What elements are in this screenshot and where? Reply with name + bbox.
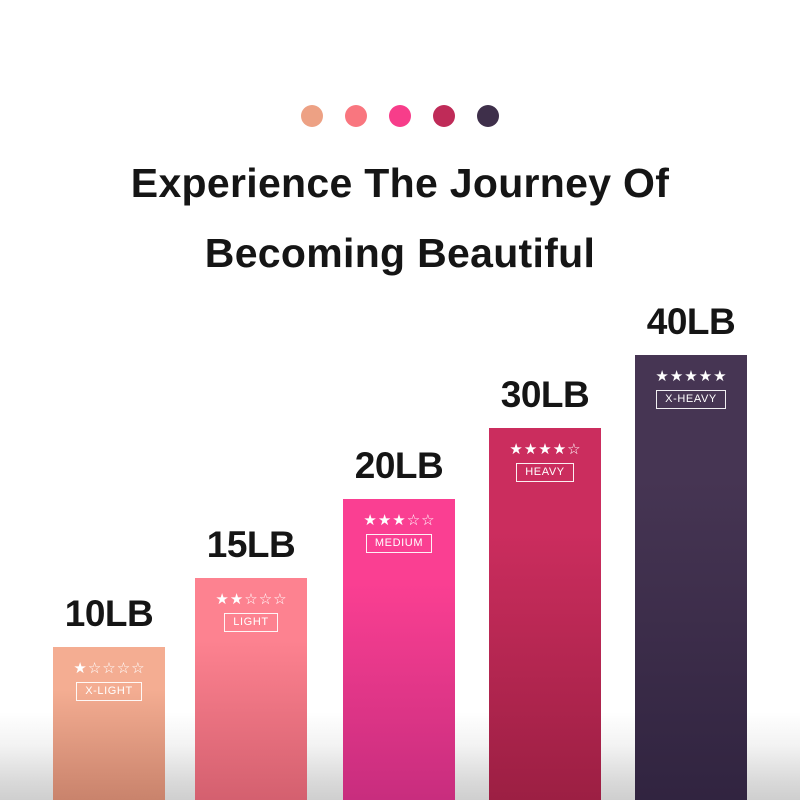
bar-20lb[interactable]: ★★★☆☆MEDIUM <box>343 499 455 800</box>
star-empty-icon: ☆ <box>102 661 115 676</box>
star-filled-icon: ★ <box>553 442 566 457</box>
star-empty-icon: ☆ <box>273 592 286 607</box>
star-empty-icon: ☆ <box>131 661 144 676</box>
star-filled-icon: ★ <box>363 513 376 528</box>
star-empty-icon: ☆ <box>88 661 101 676</box>
resistance-level-badge: HEAVY <box>516 463 573 482</box>
bar-weight-label: 15LB <box>195 526 307 563</box>
star-rating: ★☆☆☆☆ <box>73 661 144 676</box>
star-rating: ★★☆☆☆ <box>215 592 286 607</box>
star-filled-icon: ★ <box>230 592 243 607</box>
star-filled-icon: ★ <box>538 442 551 457</box>
bar-weight-label: 20LB <box>343 447 455 484</box>
star-rating: ★★★★☆ <box>509 442 580 457</box>
star-filled-icon: ★ <box>509 442 522 457</box>
star-empty-icon: ☆ <box>244 592 257 607</box>
bar-30lb[interactable]: ★★★★☆HEAVY <box>489 428 601 800</box>
bar-group-20lb[interactable]: 20LB★★★☆☆MEDIUM <box>343 447 455 800</box>
bar-group-30lb[interactable]: 30LB★★★★☆HEAVY <box>489 376 601 800</box>
bar-content: ★☆☆☆☆X-LIGHT <box>53 661 165 701</box>
star-empty-icon: ☆ <box>421 513 434 528</box>
bar-content: ★★★★☆HEAVY <box>489 442 601 482</box>
bar-weight-label: 40LB <box>635 303 747 340</box>
star-filled-icon: ★ <box>699 369 712 384</box>
bar-content: ★★★★★X-HEAVY <box>635 369 747 409</box>
bar-content: ★★★☆☆MEDIUM <box>343 513 455 553</box>
star-filled-icon: ★ <box>670 369 683 384</box>
star-filled-icon: ★ <box>524 442 537 457</box>
star-rating: ★★★★★ <box>655 369 726 384</box>
star-filled-icon: ★ <box>655 369 668 384</box>
star-rating: ★★★☆☆ <box>363 513 434 528</box>
bar-group-15lb[interactable]: 15LB★★☆☆☆LIGHT <box>195 526 307 800</box>
bar-group-40lb[interactable]: 40LB★★★★★X-HEAVY <box>635 303 747 800</box>
bar-40lb[interactable]: ★★★★★X-HEAVY <box>635 355 747 800</box>
bar-content: ★★☆☆☆LIGHT <box>195 592 307 632</box>
resistance-level-badge: X-LIGHT <box>76 682 142 701</box>
bar-weight-label: 30LB <box>489 376 601 413</box>
product-infographic-poster: Experience The Journey Of Becoming Beaut… <box>0 0 800 800</box>
bar-weight-label: 10LB <box>53 595 165 632</box>
star-empty-icon: ☆ <box>259 592 272 607</box>
bar-15lb[interactable]: ★★☆☆☆LIGHT <box>195 578 307 800</box>
star-empty-icon: ☆ <box>407 513 420 528</box>
star-filled-icon: ★ <box>713 369 726 384</box>
resistance-level-badge: LIGHT <box>224 613 277 632</box>
star-empty-icon: ☆ <box>117 661 130 676</box>
resistance-band-bar-chart: 10LB★☆☆☆☆X-LIGHT15LB★★☆☆☆LIGHT20LB★★★☆☆M… <box>0 0 800 800</box>
star-filled-icon: ★ <box>684 369 697 384</box>
star-empty-icon: ☆ <box>567 442 580 457</box>
star-filled-icon: ★ <box>378 513 391 528</box>
bar-group-10lb[interactable]: 10LB★☆☆☆☆X-LIGHT <box>53 595 165 800</box>
resistance-level-badge: X-HEAVY <box>656 390 726 409</box>
resistance-level-badge: MEDIUM <box>366 534 432 553</box>
star-filled-icon: ★ <box>392 513 405 528</box>
star-filled-icon: ★ <box>215 592 228 607</box>
bar-10lb[interactable]: ★☆☆☆☆X-LIGHT <box>53 647 165 800</box>
star-filled-icon: ★ <box>73 661 86 676</box>
